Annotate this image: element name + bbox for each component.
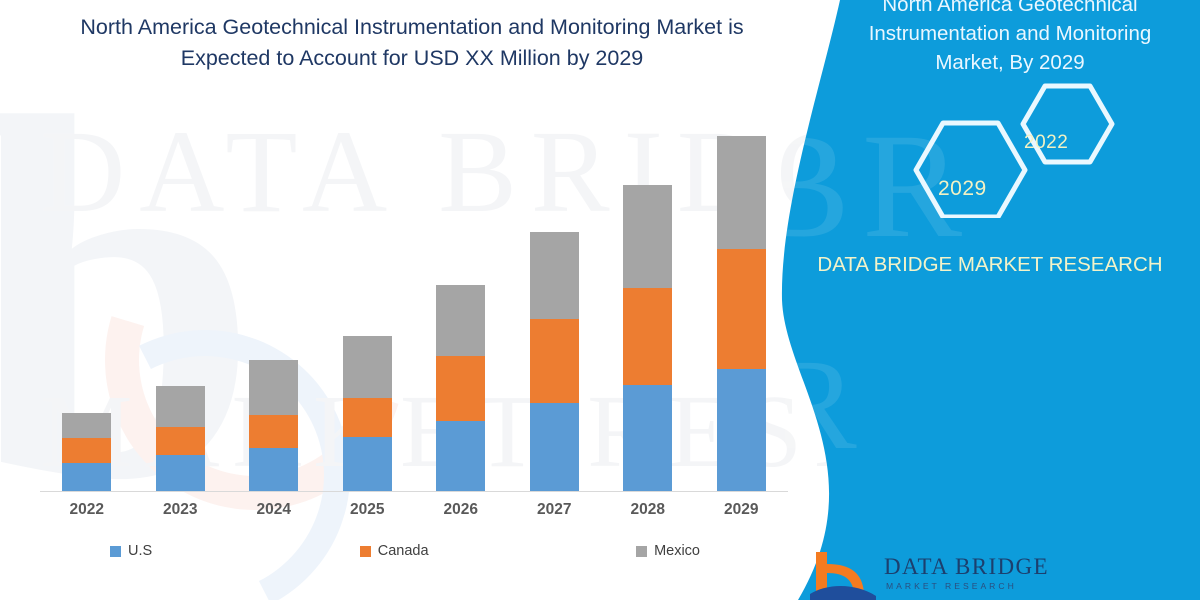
bar-segment-mexico <box>249 360 298 414</box>
company-logo: DATA BRIDGE MARKET RESEARCH <box>810 550 1140 600</box>
bar-segment-canada <box>436 356 485 421</box>
stacked-bar <box>156 386 205 491</box>
x-axis-tick-label: 2028 <box>603 501 693 519</box>
bar-segment-us <box>62 463 111 491</box>
hexagon-2022-label: 2022 <box>1024 132 1068 154</box>
square-swatch-icon <box>110 546 121 557</box>
logo-subtitle: MARKET RESEARCH <box>886 581 1017 591</box>
panel-brand-text: DATA BRIDGE MARKET RESEARCH <box>815 250 1165 280</box>
bar-column <box>322 130 412 491</box>
bar-column <box>603 130 693 491</box>
hexagon-2029-shape <box>916 123 1025 217</box>
stacked-bar <box>717 136 766 491</box>
bar-column <box>135 130 225 491</box>
square-swatch-icon <box>360 546 371 557</box>
bar-column <box>416 130 506 491</box>
legend-item[interactable]: U.S <box>110 543 152 559</box>
logo-title: DATA BRIDGE <box>884 554 1049 580</box>
legend-item-label: U.S <box>128 543 152 559</box>
panel-watermark-b: R <box>780 330 869 480</box>
bar-group <box>40 130 788 491</box>
bar-segment-mexico <box>717 136 766 249</box>
hexagon-group: 2029 2022 <box>840 78 1180 218</box>
panel-title: North America Geotechnical Instrumentati… <box>835 0 1185 77</box>
bar-segment-mexico <box>62 413 111 438</box>
chart-title: North America Geotechnical Instrumentati… <box>42 12 782 73</box>
brand-panel: BR R North America Geotechnical Instrume… <box>780 0 1200 600</box>
x-axis-tick-label: 2026 <box>416 501 506 519</box>
x-axis-tick-label: 2027 <box>509 501 599 519</box>
bar-segment-canada <box>62 438 111 463</box>
bar-segment-canada <box>530 319 579 403</box>
bar-segment-us <box>343 437 392 491</box>
square-swatch-icon <box>636 546 647 557</box>
bar-segment-mexico <box>156 386 205 427</box>
infographic-canvas: b DATA BRIDGE MARKET RESEARCH North Amer… <box>0 0 1200 600</box>
bar-segment-us <box>623 385 672 491</box>
stacked-bar <box>62 413 111 491</box>
stacked-bar <box>530 232 579 491</box>
bar-segment-canada <box>156 427 205 455</box>
stacked-bar <box>436 285 485 491</box>
chart-legend: U.SCanadaMexico <box>110 538 700 564</box>
x-axis-tick-label: 2029 <box>696 501 786 519</box>
x-axis-labels: 20222023202420252026202720282029 <box>40 497 788 523</box>
bar-segment-mexico <box>436 285 485 356</box>
bar-segment-canada <box>249 415 298 448</box>
stacked-bar <box>623 185 672 491</box>
bar-segment-mexico <box>343 336 392 398</box>
bar-segment-canada <box>623 288 672 385</box>
bar-segment-mexico <box>623 185 672 288</box>
x-axis-tick-label: 2023 <box>135 501 225 519</box>
legend-item-label: Mexico <box>654 543 700 559</box>
legend-item[interactable]: Mexico <box>636 543 700 559</box>
legend-item-label: Canada <box>378 543 429 559</box>
bar-segment-canada <box>717 249 766 368</box>
stacked-bar <box>249 360 298 491</box>
bar-column <box>42 130 132 491</box>
bar-column <box>696 130 786 491</box>
bar-segment-us <box>156 455 205 491</box>
bar-segment-canada <box>343 398 392 437</box>
x-axis-tick-label: 2022 <box>42 501 132 519</box>
bar-segment-us <box>249 448 298 491</box>
hexagon-shapes <box>840 78 1180 218</box>
bridge-b-icon <box>810 550 880 600</box>
bar-column <box>229 130 319 491</box>
bar-segment-us <box>436 421 485 491</box>
chart-plot-area <box>40 130 788 492</box>
bar-segment-mexico <box>530 232 579 320</box>
x-axis-line <box>40 491 788 492</box>
x-axis-tick-label: 2025 <box>322 501 412 519</box>
legend-item[interactable]: Canada <box>360 543 429 559</box>
stacked-bar <box>343 336 392 491</box>
bar-column <box>509 130 599 491</box>
bar-segment-us <box>530 403 579 491</box>
hexagon-2029-label: 2029 <box>938 177 987 201</box>
x-axis-tick-label: 2024 <box>229 501 319 519</box>
bar-segment-us <box>717 369 766 491</box>
